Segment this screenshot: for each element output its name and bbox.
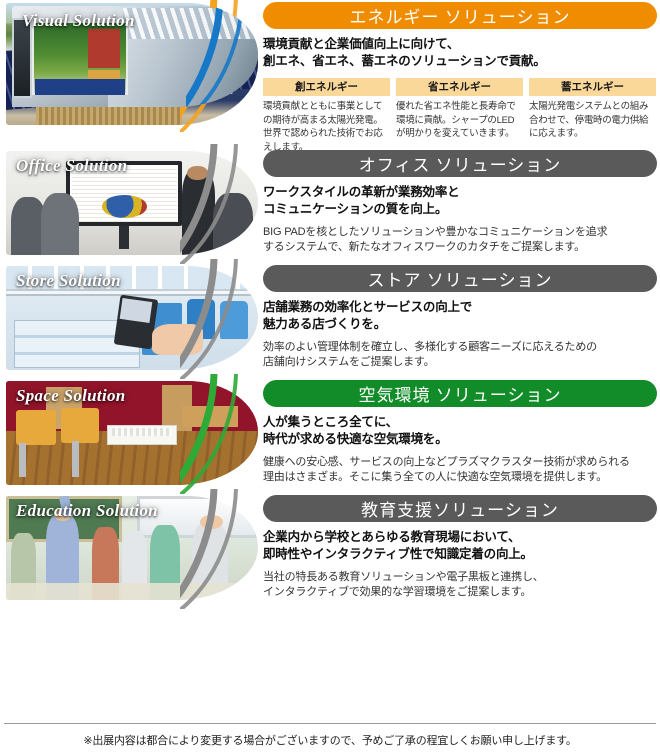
section-banner-energy[interactable]: エネルギー ソリューション (263, 2, 657, 29)
section-banner-store[interactable]: ストア ソリューション (263, 265, 657, 292)
sub-feature-body: 太陽光発電システムとの組み合わせで、停電時の電力供給に応えます。 (529, 100, 656, 140)
section-content: ストア ソリューション 店舗業務の効率化とサービスの向上で魅力ある店づくりを。 … (263, 265, 657, 371)
section-content: 空気環境 ソリューション 人が集うところ全てに、時代が求める快適な空気環境を。 … (263, 380, 657, 486)
sub-feature-title: 蓄エネルギー (529, 78, 656, 97)
solution-section-visual[interactable]: Visual Solution ビジュアル ソリューション インパクトのある表現… (6, 3, 258, 107)
section-content: 教育支援ソリューション 企業内から学校とあらゆる教育現場において、即時性やインタ… (263, 495, 657, 601)
photo-caption: Space Solution (16, 386, 126, 406)
section-description: 効率のよい管理体制を確立し、多様化する顧客ニーズに応えるための店舗向けシステムを… (263, 340, 657, 372)
section-description: BIG PADを核としたソリューションや豊かなコミュニケーションを追求するシステ… (263, 225, 657, 257)
section-photo-office: Office Solution (6, 151, 258, 255)
sub-feature-box: 蓄エネルギー 太陽光発電システムとの組み合わせで、停電時の電力供給に応えます。 (529, 78, 656, 155)
section-photo-education: Education Solution (6, 496, 258, 600)
section-banner-space[interactable]: 空気環境 ソリューション (263, 380, 657, 407)
sub-feature-box: 省エネルギー 優れた省エネ性能と長寿命で環境に貢献。シャープのLEDが明かりを変… (396, 78, 523, 155)
solution-section-store[interactable]: Store Solution ストア ソリューション 店舗業務の効率化とサービス… (0, 263, 660, 378)
section-description: 当社の特長ある教育ソリューションや電子黒板と連携し、インタラクティブで効果的な学… (263, 570, 657, 602)
section-description: 健康への安心感、サービスの向上などプラズマクラスター技術が求められる理由はさまざ… (263, 455, 657, 487)
footer-divider (4, 723, 656, 724)
section-lead: 人が集うところ全てに、時代が求める快適な空気環境を。 (263, 414, 657, 449)
section-photo-space: Space Solution (6, 381, 258, 485)
footer-note: ※出展内容は都合により変更する場合がございますので、予めご了承の程宜しくお願い申… (0, 732, 660, 748)
sub-feature-body: 環境貢献とともに事業としての期待が高まる太陽光発電。世界で認められた技術でお応え… (263, 100, 390, 154)
section-content: エネルギー ソリューション 環境貢献と企業価値向上に向けて、創エネ、省エネ、蓄エ… (263, 2, 657, 154)
sub-feature-title: 創エネルギー (263, 78, 390, 97)
section-photo-visual: Visual Solution (12, 6, 258, 107)
section-content: オフィス ソリューション ワークスタイルの革新が業務効率とコミュニケーションの質… (263, 150, 657, 256)
section-lead: ワークスタイルの革新が業務効率とコミュニケーションの質を向上。 (263, 184, 657, 219)
section-lead: 企業内から学校とあらゆる教育現場において、即時性やインタラクティブ性で知識定着の… (263, 529, 657, 564)
sub-feature-body: 優れた省エネ性能と長寿命で環境に貢献。シャープのLEDが明かりを変えていきます。 (396, 100, 523, 140)
sub-feature-boxes: 創エネルギー 環境貢献とともに事業としての期待が高まる太陽光発電。世界で認められ… (263, 78, 657, 155)
sub-feature-box: 創エネルギー 環境貢献とともに事業としての期待が高まる太陽光発電。世界で認められ… (263, 78, 390, 155)
solutions-page: Energy Solution エネルギー ソリューション 環境貢献と企業価値向… (0, 0, 660, 752)
photo-caption: Store Solution (16, 271, 121, 291)
sections-list: Energy Solution エネルギー ソリューション 環境貢献と企業価値向… (0, 0, 660, 611)
solution-section-education[interactable]: Education Solution 教育支援ソリューション 企業内から学校とあ… (0, 493, 660, 611)
photo-caption: Education Solution (16, 501, 158, 521)
solution-section-space[interactable]: Space Solution 空気環境 ソリューション 人が集うところ全てに、時… (0, 378, 660, 493)
solution-section-office[interactable]: Office Solution オフィス ソリューション ワークスタイルの革新が… (0, 148, 660, 263)
photo-caption: Visual Solution (22, 11, 135, 31)
section-banner-office[interactable]: オフィス ソリューション (263, 150, 657, 177)
section-lead: 店舗業務の効率化とサービスの向上で魅力ある店づくりを。 (263, 299, 657, 334)
photo-caption: Office Solution (16, 156, 127, 176)
section-banner-education[interactable]: 教育支援ソリューション (263, 495, 657, 522)
sub-feature-title: 省エネルギー (396, 78, 523, 97)
section-photo-store: Store Solution (6, 266, 258, 370)
section-lead: 環境貢献と企業価値向上に向けて、創エネ、省エネ、蓄エネのソリューションで貢献。 (263, 36, 657, 71)
